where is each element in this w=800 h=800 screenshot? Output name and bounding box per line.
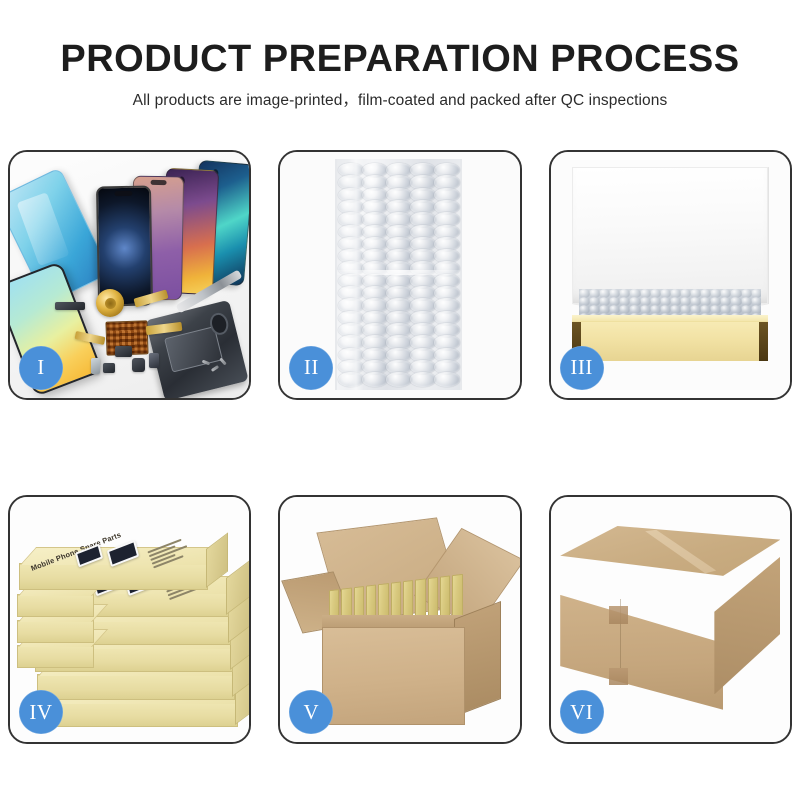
step-badge-6: VI: [560, 690, 604, 734]
open-kraft-box-front: [572, 321, 768, 360]
retail-box: [17, 594, 93, 617]
screws-icon: [202, 359, 228, 375]
chip-part-icon: [132, 358, 145, 372]
step-badge-1: I: [19, 346, 63, 390]
process-step-6: VI: [549, 495, 792, 745]
product-preparation-infographic: PRODUCT PREPARATION PROCESS All products…: [0, 0, 800, 800]
chip-part-icon: [55, 302, 85, 310]
chip-part-icon: [149, 353, 159, 368]
carton-hand-tab: [609, 606, 629, 623]
phone-dark: [96, 186, 153, 307]
page-subtitle: All products are image-printed，film-coat…: [0, 91, 800, 111]
sealed-shipping-carton: [560, 526, 780, 717]
bubble: [386, 372, 412, 386]
notch-icon: [115, 191, 132, 196]
process-step-2: II: [278, 150, 521, 400]
step-badge-3: III: [560, 346, 604, 390]
bubble: [410, 372, 436, 386]
phone-chassis-icon: [145, 300, 249, 398]
retail-box: [37, 674, 235, 699]
carton-front-face: [322, 627, 464, 725]
step-badge-2: II: [289, 346, 333, 390]
retail-box-printed-top: Mobile Phone Spare Parts: [19, 563, 208, 590]
carton-side-face: [714, 557, 780, 695]
box-lid-white: [572, 167, 768, 304]
bubble: [434, 372, 460, 386]
bubble-wrap-pouch: [335, 159, 462, 390]
process-step-1: I: [8, 150, 251, 400]
chip-part-icon: [115, 346, 132, 357]
retail-box: [40, 702, 238, 727]
bubble: [362, 372, 388, 386]
process-step-4: Mobile Phone Spare Parts: [8, 495, 251, 745]
process-step-3: III: [549, 150, 792, 400]
carton-hand-tab: [609, 668, 629, 685]
header: PRODUCT PREPARATION PROCESS All products…: [0, 0, 800, 111]
coil-part-icon: [96, 289, 124, 317]
step-badge-5: V: [289, 690, 333, 734]
chip-part-icon: [103, 363, 115, 373]
pouch-seal: [337, 270, 460, 275]
notch-icon: [151, 180, 168, 185]
process-step-5: V: [278, 495, 521, 745]
retail-box: [17, 620, 93, 643]
page-title: PRODUCT PREPARATION PROCESS: [0, 36, 800, 82]
step-badge-4: IV: [19, 690, 63, 734]
process-steps-grid: I II III: [8, 150, 792, 744]
chip-part-icon: [91, 358, 100, 374]
retail-box: [17, 645, 93, 668]
